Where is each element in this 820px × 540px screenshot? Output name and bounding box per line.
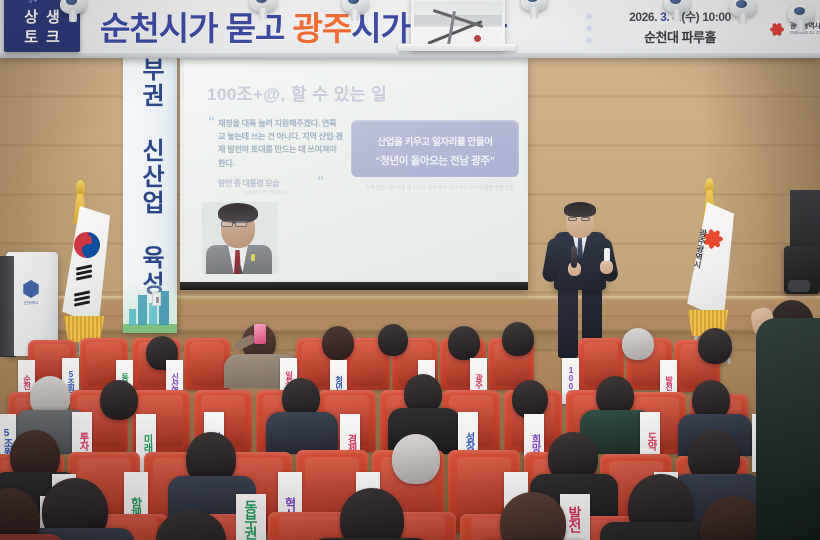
snowflake-icon: ✳✳✳ xyxy=(585,12,593,48)
audience-shoulders xyxy=(0,534,64,540)
audience-head xyxy=(622,328,654,360)
flag-finial xyxy=(76,180,85,196)
slide-sub-note: 지역 산업 기반 확충 및 신성장 동력 확보 청년 정착 일자리 창출 추진 … xyxy=(354,184,514,192)
gwangju-city-logo: 광주광역시 GWANGJU CITY xyxy=(770,20,816,42)
banner-date-prefix: 2026. xyxy=(629,10,660,24)
banner-date-time: 10:00 xyxy=(699,10,731,24)
slide-title: 100조+@, 할 수 있는 일 xyxy=(207,80,387,105)
presentation-clicker[interactable] xyxy=(604,248,610,261)
wall-switch-plate[interactable] xyxy=(152,292,161,306)
slide-highlight-box: 산업을 키우고 일자리를 만들어 “청년이 돌아오는 전남 광주” xyxy=(351,120,519,177)
screen-bottom-bar xyxy=(180,282,528,290)
audience-shoulders xyxy=(266,412,338,454)
audience-head xyxy=(100,380,138,420)
audience-head xyxy=(322,326,354,360)
banner-title-highlight: 광주 xyxy=(293,10,352,47)
projected-slide: 100조+@, 할 수 있는 일 “ 재정을 대폭 늘려 지원해주겠다. 연륙교… xyxy=(184,60,524,282)
audience-area: 순천 5조원 동부권 신산업 일자리 청년 상생 광주 100조 발전 xyxy=(0,318,820,540)
banner-place: 순천대 파루홀 xyxy=(600,27,760,46)
slide-photo-subcaption: 2026년 지역 간담회 현장 xyxy=(244,190,344,196)
banner-bottom-strip xyxy=(0,53,820,58)
slide-photo-caption: 발언 중 대통령 모습 xyxy=(218,178,338,189)
blue-sign-small-text: 광주 xyxy=(28,0,38,4)
audience-head xyxy=(512,380,548,418)
gwangju-pinwheel-icon xyxy=(770,21,788,39)
press-photographer xyxy=(756,318,820,540)
ceiling-projector-housing xyxy=(411,0,505,50)
podium-emblem: 순천대학교 xyxy=(22,280,40,298)
projection-screen: 100조+@, 할 수 있는 일 “ 재정을 대폭 늘려 지원해주겠다. 연륙교… xyxy=(180,58,528,290)
audience-head xyxy=(392,434,440,484)
highlight-line-2: “청년이 돌아오는 전남 광주” xyxy=(351,153,519,168)
audience-head xyxy=(378,324,408,356)
audience-head xyxy=(448,326,480,360)
highlight-line-1: 산업을 키우고 일자리를 만들어 xyxy=(351,134,519,148)
slide-speaker-photo xyxy=(202,202,278,274)
slide-quote-text: 재정을 대폭 늘려 지원해주겠다. 연륙교 놓는데 쓰는 건 아니다. 지역 산… xyxy=(218,117,343,170)
audience-head xyxy=(698,328,732,364)
projector-mount-shelf xyxy=(398,44,516,51)
microphone-icon xyxy=(571,246,577,268)
audience-head xyxy=(502,322,534,356)
banner-date-day: (수) xyxy=(681,10,699,24)
quote-open-icon: “ xyxy=(208,113,215,129)
smartphone-icon[interactable] xyxy=(254,324,266,344)
blue-sign-row-2: 토크 xyxy=(4,29,80,47)
seat-placard: 동부권 xyxy=(236,494,266,540)
video-camera xyxy=(784,246,820,294)
logo-text-en: GWANGJU CITY xyxy=(790,30,820,35)
podium-emblem-text: 순천대학교 xyxy=(22,300,40,305)
vertical-banner-text: 부권 신산업 육성 xyxy=(123,57,177,287)
screenshot-root: 부권 신산업 육성 100조+@, 할 수 있는 일 “ 재정을 대폭 늘려 지… xyxy=(0,0,820,540)
vertical-banner: 부권 신산업 육성 xyxy=(123,55,177,333)
